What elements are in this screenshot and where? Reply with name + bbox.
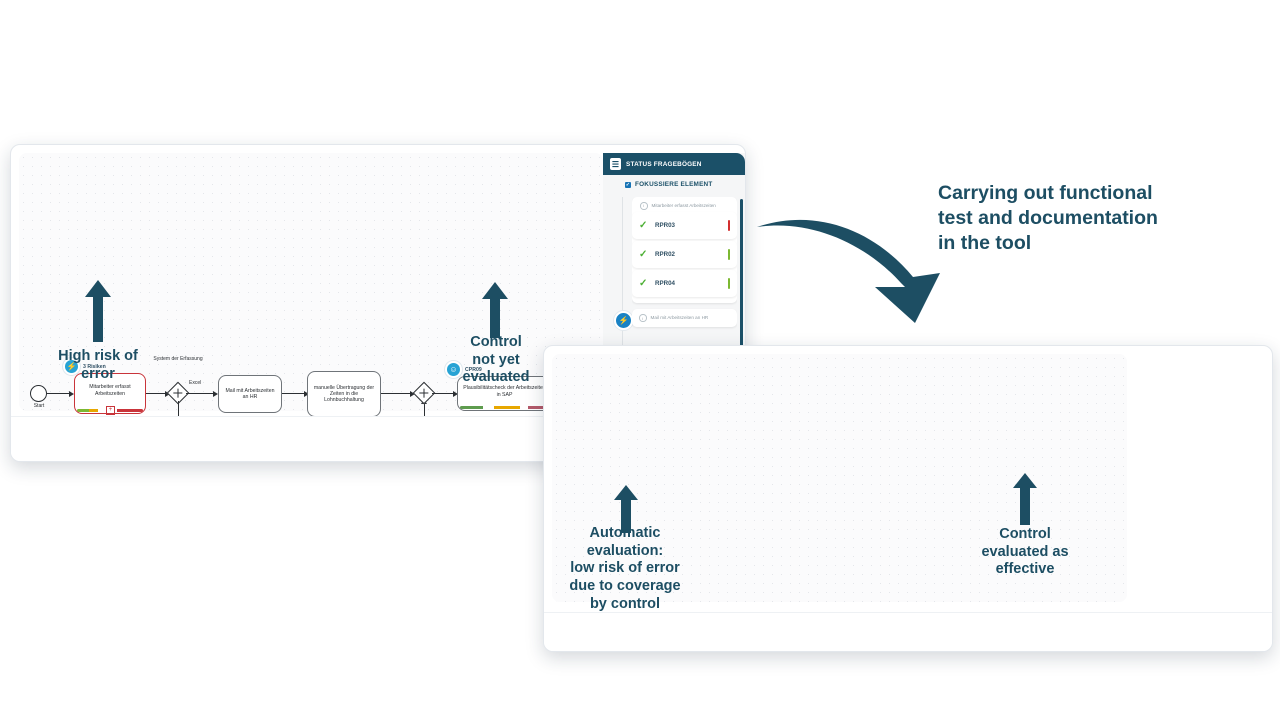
annotation-line: High risk of <box>18 348 178 366</box>
check-icon: ✓ <box>639 278 655 289</box>
arrow-control-effective <box>1012 473 1038 530</box>
flow-gw2-t6 <box>432 393 455 394</box>
panel-title: STATUS FRAGEBÖGEN <box>626 161 702 168</box>
up-arrow-icon <box>84 280 112 342</box>
group-caption: i Mitarbeiter erfasst Arbeitszeiten <box>640 202 732 210</box>
questionnaire-collapsed-row[interactable]: i Mail mit Arbeitszeiten an HR <box>632 309 737 327</box>
group-caption-text: Mail mit Arbeitszeiten an HR <box>651 315 709 321</box>
callout-line: in the tool <box>938 231 1238 256</box>
row-label: RPR03 <box>655 222 728 229</box>
annotation-line: evaluated as <box>945 544 1105 562</box>
flow-t2-t3 <box>282 393 306 394</box>
row-status-bar <box>728 249 731 260</box>
start-event[interactable] <box>30 385 47 402</box>
annotation-high-risk: High risk of error <box>18 348 178 383</box>
annotation-line: error <box>18 366 178 384</box>
check-icon: ✓ <box>639 220 655 231</box>
questionnaire-row[interactable]: ✓ RPR03 <box>632 212 737 239</box>
up-arrow-icon <box>1012 473 1038 525</box>
up-arrow-icon <box>481 282 509 338</box>
annotation-line: evaluation: <box>545 543 705 561</box>
row-status-bar <box>728 278 731 289</box>
row-label: RPR02 <box>655 251 728 258</box>
flow-t3-gw2 <box>381 393 412 394</box>
checkbox-icon[interactable]: ✓ <box>625 182 631 188</box>
row-status-bar <box>728 220 731 231</box>
task-label: Plausibilitätscheck der Arbeitszeiten in… <box>461 385 548 397</box>
flow-label-excel: Excel <box>189 380 201 386</box>
start-event-label: Start <box>22 403 56 409</box>
group-caption-text: Mitarbeiter erfasst Arbeitszeiten <box>652 203 716 209</box>
annotation-line: Control <box>945 526 1105 544</box>
panel-scrollbar[interactable] <box>740 199 743 349</box>
focus-element-toggle[interactable]: ✓ FOKUSSIERE ELEMENT <box>625 181 712 188</box>
task-mail-hr[interactable]: Mail mit Arbeitszeiten an HR <box>218 375 282 413</box>
annotation-line: by control <box>545 596 705 614</box>
annotation-line: effective <box>945 561 1105 579</box>
callout-text: Carrying out functional test and documen… <box>938 181 1238 256</box>
window-footer-after <box>544 612 1272 651</box>
task-label: manuelle Übertragung der Zeiten in die L… <box>311 385 377 403</box>
arrow-high-risk <box>84 280 112 347</box>
task-status-bar <box>460 406 549 409</box>
task-label: Mail mit Arbeitszeiten an HR <box>222 388 278 400</box>
task-label: Mitarbeiter erfasst Arbeitszeiten <box>78 384 142 396</box>
slide-canvas: Start Mitarbeiter erfasst Arbeitszeiten … <box>0 0 1280 720</box>
annotation-control-effective: Control evaluated as effective <box>945 526 1105 579</box>
annotation-automatic-evaluation: Automatic evaluation: low risk of error … <box>545 525 705 613</box>
annotation-line: due to coverage <box>545 578 705 596</box>
flow-start-t1 <box>47 393 71 394</box>
group-caption: i Mail mit Arbeitszeiten an HR <box>639 314 708 322</box>
callout-line: Carrying out functional <box>938 181 1238 206</box>
flow-t1-gw1 <box>146 393 167 394</box>
annotation-line: Automatic <box>545 525 705 543</box>
callout-arrow-icon <box>755 215 965 325</box>
check-icon: ✓ <box>639 249 655 260</box>
document-list-icon: ☰ <box>610 158 621 170</box>
task-manuelle-uebertragung[interactable]: manuelle Übertragung der Zeiten in die L… <box>307 371 381 417</box>
focus-element-label: FOKUSSIERE ELEMENT <box>635 181 712 188</box>
questionnaire-row[interactable]: ✓ RPR04 <box>632 270 737 297</box>
row-label: RPR04 <box>655 280 728 287</box>
bolt-icon[interactable]: ⚡ <box>614 311 633 330</box>
info-icon: i <box>640 202 648 210</box>
callout-line: test and documentation <box>938 206 1238 231</box>
questionnaire-row[interactable]: ✓ RPR02 <box>632 241 737 268</box>
info-icon: i <box>639 314 647 322</box>
annotation-line: low risk of error <box>545 560 705 578</box>
flow-gw1-t2 <box>186 393 215 394</box>
subprocess-plus-icon: + <box>106 406 115 415</box>
panel-title-bar: ☰ STATUS FRAGEBÖGEN <box>603 153 745 175</box>
